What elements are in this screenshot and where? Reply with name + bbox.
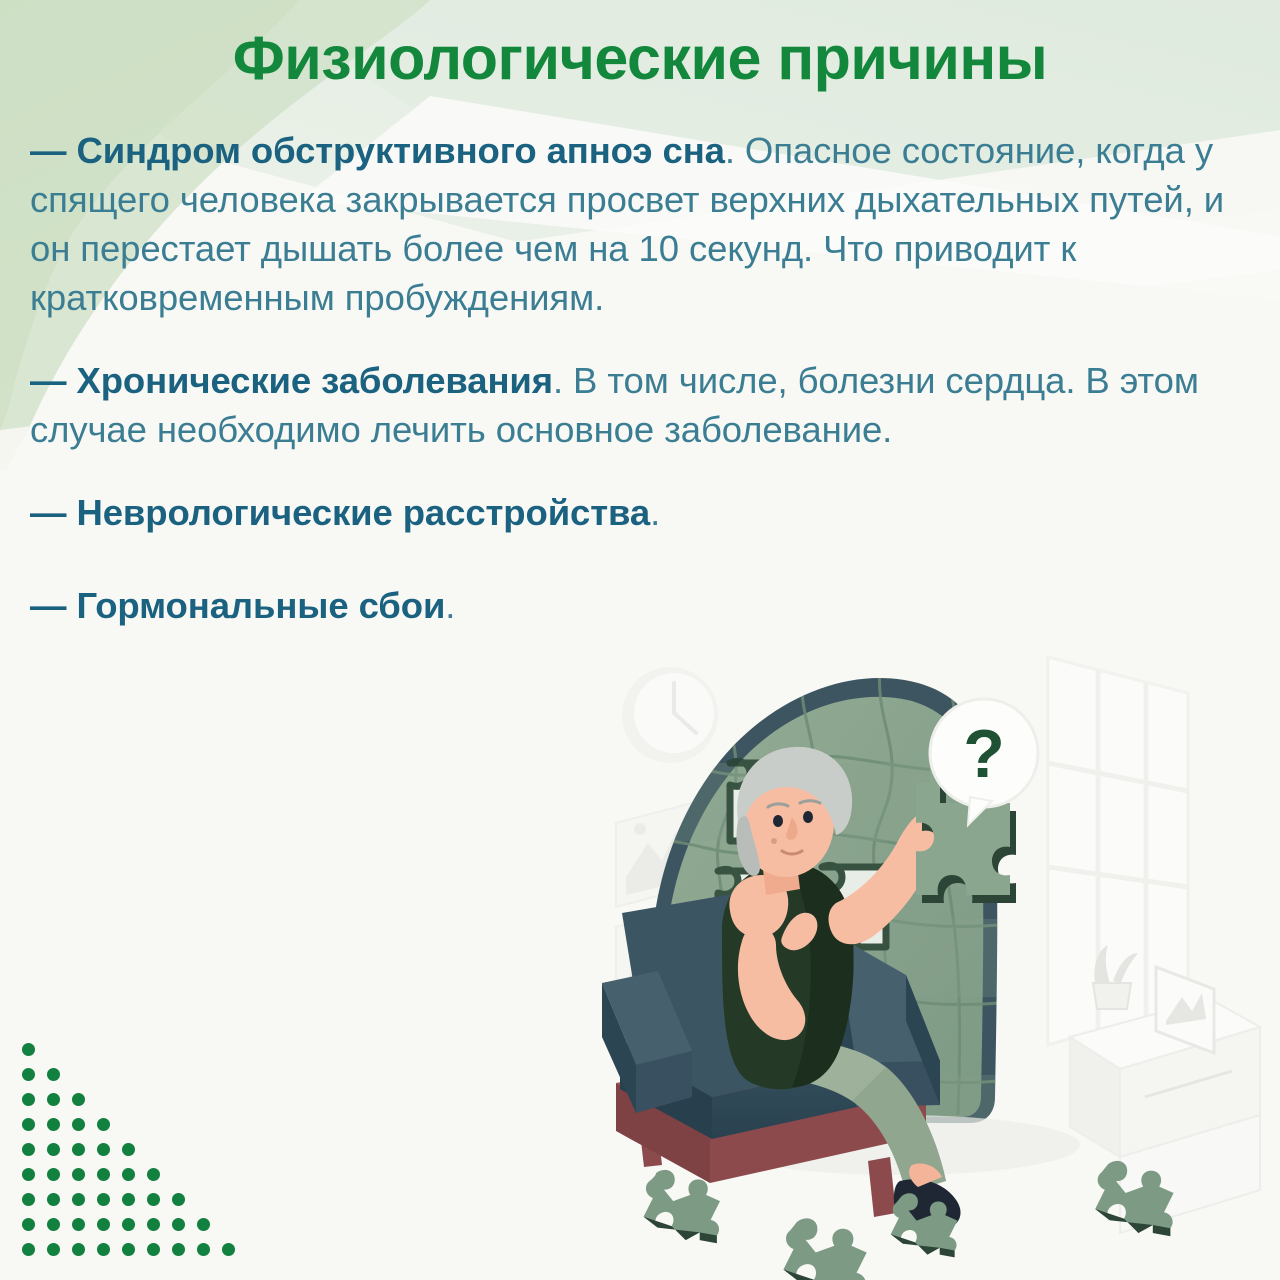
dot	[122, 1193, 135, 1206]
dot	[172, 1218, 185, 1231]
dot	[22, 1218, 35, 1231]
dot	[147, 1243, 160, 1256]
dot	[22, 1168, 35, 1181]
bullet-lead-3: Неврологические расстройства	[76, 492, 650, 533]
dot	[47, 1193, 60, 1206]
dot	[22, 1043, 35, 1056]
dot	[72, 1243, 85, 1256]
dot	[72, 1218, 85, 1231]
dot	[147, 1168, 160, 1181]
dot	[122, 1218, 135, 1231]
dot-row	[22, 1162, 247, 1187]
question-mark-glyph: ?	[963, 716, 1005, 792]
dot	[172, 1193, 185, 1206]
paragraph-chronic: — Хронические заболевания. В том числе, …	[30, 356, 1265, 454]
dot	[47, 1168, 60, 1181]
dot	[97, 1193, 110, 1206]
paragraph-neurological: — Неврологические расстройства.	[30, 488, 1265, 537]
dot	[147, 1193, 160, 1206]
wall-clock-icon	[622, 667, 718, 763]
bullet-dash-1: —	[30, 130, 66, 171]
dot	[22, 1243, 35, 1256]
dot	[97, 1218, 110, 1231]
dot	[22, 1143, 35, 1156]
bullet-dash-2: —	[30, 360, 66, 401]
dot	[122, 1168, 135, 1181]
dot	[72, 1143, 85, 1156]
dot	[197, 1243, 210, 1256]
dot	[97, 1243, 110, 1256]
dot-row	[22, 1112, 247, 1137]
paragraph-apnea: — Синдром обструктивного апноэ сна. Опас…	[30, 126, 1265, 322]
dot	[222, 1243, 235, 1256]
infographic-page: Физиологические причины — Синдром обстру…	[0, 0, 1280, 1280]
dot-row	[22, 1212, 247, 1237]
dot	[172, 1243, 185, 1256]
dot-triangle-decoration	[22, 1037, 247, 1262]
page-title: Физиологические причины	[0, 26, 1280, 92]
floor-puzzle-piece-2	[783, 1218, 866, 1280]
dot	[22, 1068, 35, 1081]
dot	[72, 1193, 85, 1206]
bullet-lead-2: Хронические заболевания	[76, 360, 553, 401]
dot-row	[22, 1137, 247, 1162]
dot	[122, 1143, 135, 1156]
dot	[72, 1118, 85, 1131]
dot	[72, 1093, 85, 1106]
dot-row	[22, 1062, 247, 1087]
dot	[47, 1218, 60, 1231]
paragraph-hormonal: — Гормональные сбои.	[30, 581, 1265, 630]
illustration-puzzle-head-woman: ?	[600, 645, 1280, 1280]
dot	[47, 1143, 60, 1156]
dot	[147, 1218, 160, 1231]
body-content: — Синдром обструктивного апноэ сна. Опас…	[30, 126, 1265, 630]
dot	[122, 1243, 135, 1256]
dot	[47, 1068, 60, 1081]
bullet-rest-3: .	[650, 492, 660, 533]
dot	[47, 1093, 60, 1106]
dot	[22, 1093, 35, 1106]
dot	[47, 1118, 60, 1131]
dot	[97, 1143, 110, 1156]
dot	[72, 1168, 85, 1181]
bullet-lead-1: Синдром обструктивного апноэ сна	[76, 130, 724, 171]
dot-row	[22, 1037, 247, 1062]
bullet-lead-4: Гормональные сбои	[76, 585, 445, 626]
dot	[97, 1118, 110, 1131]
dot	[97, 1168, 110, 1181]
bullet-dash-4: —	[30, 585, 66, 626]
dot-row	[22, 1087, 247, 1112]
dot	[22, 1193, 35, 1206]
bullet-rest-4: .	[445, 585, 455, 626]
dot-row	[22, 1187, 247, 1212]
dot-row	[22, 1237, 247, 1262]
bullet-dash-3: —	[30, 492, 66, 533]
dot	[22, 1118, 35, 1131]
dot	[197, 1218, 210, 1231]
dot	[47, 1243, 60, 1256]
